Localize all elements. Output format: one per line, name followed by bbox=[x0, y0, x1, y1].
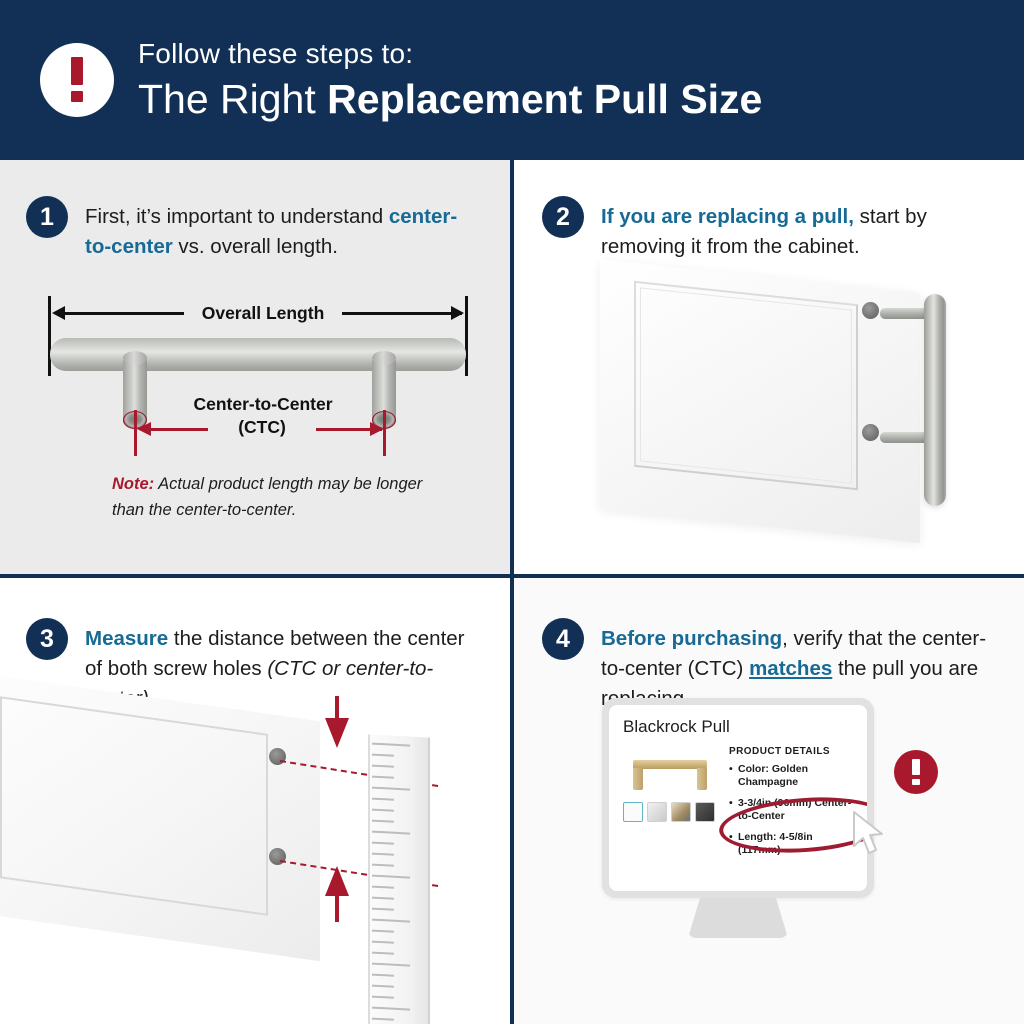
ctc-arrow-right-icon bbox=[370, 422, 384, 436]
pull-bar-graphic bbox=[50, 338, 466, 371]
monitor-mockup: Blackrock Pull bbox=[602, 698, 892, 978]
thumbnail-strip bbox=[623, 802, 721, 822]
ruler-tick bbox=[372, 743, 410, 747]
infographic-page: Follow these steps to: The Right Replace… bbox=[0, 0, 1024, 1024]
post-right-top bbox=[372, 351, 396, 365]
step-4-number: 4 bbox=[542, 618, 584, 660]
step-1-text: First, it’s important to understand cent… bbox=[85, 196, 466, 262]
ctc-abbrev-label: (CTC) bbox=[208, 417, 316, 438]
overall-length-label: Overall Length bbox=[184, 300, 342, 326]
step-2-header: 2 If you are replacing a pull, start by … bbox=[542, 196, 962, 262]
step-panel-4: 4 Before purchasing, verify that the cen… bbox=[514, 578, 1024, 1024]
product-thumbnail-4[interactable] bbox=[695, 802, 715, 822]
ruler-tick bbox=[372, 974, 394, 977]
title-light: The Right bbox=[138, 76, 327, 122]
step-2-text-accent: If you are replacing a pull, bbox=[601, 205, 854, 228]
cabinet-door-measure-inner bbox=[0, 696, 268, 916]
screw-hole-bottom bbox=[862, 424, 879, 441]
product-media bbox=[623, 746, 721, 865]
product-detail-ctc: 3-3/4in (96mm) Center-to-Center bbox=[729, 797, 853, 824]
ruler-tick bbox=[372, 787, 410, 791]
ruler-tick bbox=[372, 897, 394, 900]
ruler-tick bbox=[372, 842, 394, 845]
pull-bar bbox=[924, 294, 946, 506]
ruler-tick bbox=[372, 798, 394, 801]
step-1-text-part1: First, it’s important to understand bbox=[85, 205, 389, 228]
ruler-tick bbox=[372, 1007, 410, 1011]
ruler-tick bbox=[372, 864, 394, 867]
vertical-divider bbox=[510, 160, 514, 1024]
step-panel-2: 2 If you are replacing a pull, start by … bbox=[514, 160, 1024, 574]
step-1-number: 1 bbox=[26, 196, 68, 238]
product-detail-length: Length: 4-5/8in (117mm) bbox=[729, 831, 853, 858]
step-1-header: 1 First, it’s important to understand ce… bbox=[26, 196, 466, 262]
overall-line-right bbox=[340, 312, 462, 315]
ruler-tick bbox=[372, 1018, 394, 1021]
post-left-top bbox=[123, 351, 147, 365]
overall-tick-right bbox=[465, 296, 468, 376]
step-panel-3: 3 Measure the distance between the cente… bbox=[0, 578, 510, 1024]
overall-arrow-left-icon bbox=[52, 306, 65, 320]
ruler-tick bbox=[372, 930, 394, 933]
product-image bbox=[623, 746, 719, 798]
screw-hole-top bbox=[862, 302, 879, 319]
cabinet-door-inner-frame-2 bbox=[640, 287, 852, 483]
pull-measurement-diagram: Overall Length Center-to-Center (CTC) bbox=[48, 300, 468, 460]
product-detail-color: Color: Golden Champagne bbox=[729, 763, 853, 790]
header-text-block: Follow these steps to: The Right Replace… bbox=[138, 38, 762, 121]
product-details: PRODUCT DETAILS Color: Golden Champagne … bbox=[729, 746, 853, 865]
step-4-text-accent: Before purchasing bbox=[601, 627, 782, 650]
note-body: Actual product length may be longer than… bbox=[112, 475, 422, 519]
step-3-text-accent: Measure bbox=[85, 627, 168, 650]
overall-arrow-right-icon bbox=[451, 306, 464, 320]
note-label: Note: bbox=[112, 475, 154, 493]
steps-grid: 1 First, it’s important to understand ce… bbox=[0, 160, 1024, 1024]
measuring-illustration bbox=[0, 688, 510, 1024]
ruler-tick bbox=[372, 809, 394, 812]
ruler-tick bbox=[372, 875, 410, 879]
cabinet-with-pull-illustration bbox=[584, 272, 1024, 572]
product-thumbnail-2[interactable] bbox=[647, 802, 667, 822]
ruler-tick bbox=[372, 996, 394, 999]
ruler-tick bbox=[372, 952, 394, 955]
ruler-tick bbox=[372, 776, 394, 779]
product-body: PRODUCT DETAILS Color: Golden Champagne … bbox=[623, 746, 853, 865]
ruler-tick bbox=[372, 963, 410, 967]
step-1-text-part2: vs. overall length. bbox=[173, 235, 338, 258]
ruler-tick bbox=[372, 985, 394, 988]
horizontal-divider bbox=[0, 574, 1024, 578]
ruler-tick bbox=[372, 941, 394, 944]
ruler-tick bbox=[372, 820, 394, 823]
cabinet-door-measure bbox=[0, 675, 320, 961]
overall-tick-left bbox=[48, 296, 51, 376]
step-panel-1: 1 First, it’s important to understand ce… bbox=[0, 160, 510, 574]
ruler-tick bbox=[372, 919, 410, 923]
header-banner: Follow these steps to: The Right Replace… bbox=[0, 0, 1024, 160]
ruler-graphic bbox=[368, 734, 430, 1024]
mouse-pointer-icon bbox=[852, 810, 886, 858]
title-bold: Replacement Pull Size bbox=[327, 76, 762, 122]
monitor-bezel: Blackrock Pull bbox=[602, 698, 874, 898]
alert-exclamation-icon bbox=[40, 43, 114, 117]
product-title: Blackrock Pull bbox=[623, 717, 853, 737]
matches-link[interactable]: matches bbox=[749, 657, 832, 680]
arrow-down-icon bbox=[325, 696, 349, 752]
product-thumbnail-3[interactable] bbox=[671, 802, 691, 822]
ruler-tick bbox=[372, 765, 394, 768]
monitor-stand bbox=[688, 898, 788, 938]
ruler-tick bbox=[372, 754, 394, 757]
product-page-screen: Blackrock Pull bbox=[609, 705, 867, 891]
ruler-tick bbox=[372, 853, 394, 856]
step-2-number: 2 bbox=[542, 196, 584, 238]
ruler-tick bbox=[372, 886, 394, 889]
ctc-label: Center-to-Center bbox=[156, 394, 370, 415]
ruler-tick bbox=[372, 831, 410, 835]
ruler-tick bbox=[372, 908, 394, 911]
arrow-up-icon bbox=[325, 866, 349, 922]
product-details-heading: PRODUCT DETAILS bbox=[729, 746, 853, 757]
note-text: Note: Actual product length may be longe… bbox=[112, 472, 452, 523]
step-2-text: If you are replacing a pull, start by re… bbox=[601, 196, 962, 262]
alert-exclamation-icon-small bbox=[894, 750, 938, 794]
product-thumbnail-1[interactable] bbox=[623, 802, 643, 822]
step-3-number: 3 bbox=[26, 618, 68, 660]
header-kicker: Follow these steps to: bbox=[138, 38, 762, 70]
overall-line-left bbox=[56, 312, 184, 315]
ctc-arrow-left-icon bbox=[137, 422, 151, 436]
page-title: The Right Replacement Pull Size bbox=[138, 77, 762, 122]
